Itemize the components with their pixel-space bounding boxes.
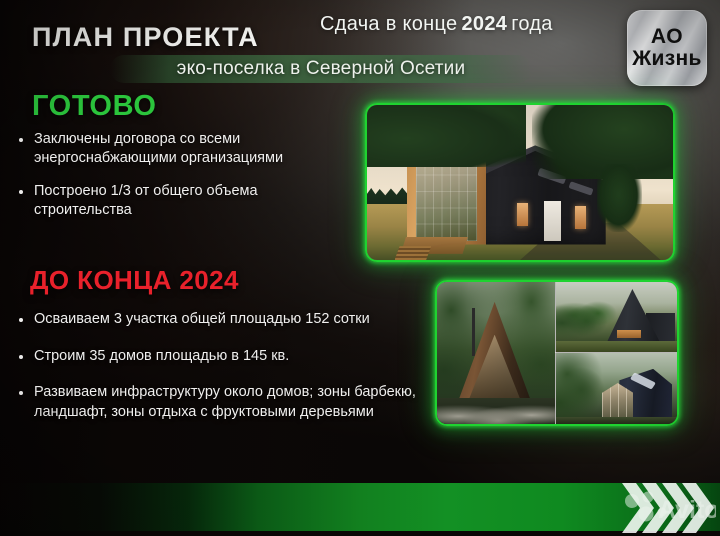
footer-text-after: года — [511, 13, 553, 36]
avito-watermark-icon: Avito — [620, 481, 716, 535]
footer-text-before: Сдача в конце — [320, 13, 457, 36]
poster-canvas: ПЛАН ПРОЕКТА эко-поселка в Северной Осет… — [0, 0, 720, 536]
footer-banner — [0, 483, 720, 531]
footer-year: 2024 — [461, 13, 507, 36]
footer-text: Сдача в конце 2024 года — [320, 0, 553, 48]
avito-watermark-text: Avito — [658, 496, 716, 524]
background-vignette — [0, 0, 720, 536]
